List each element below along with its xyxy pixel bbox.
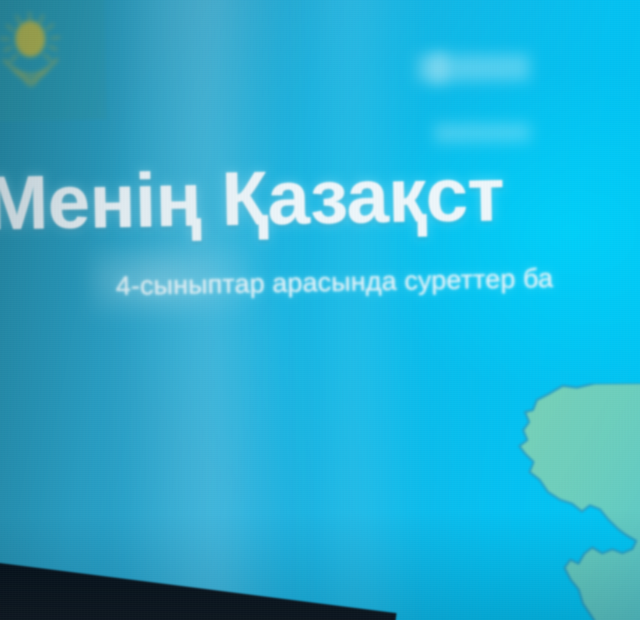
screen-photo: Менің Қазақст 4-сыныптар арасында суретт…	[0, 0, 640, 620]
display-surface: Менің Қазақст 4-сыныптар арасында суретт…	[0, 0, 640, 620]
slide-title: Менің Қазақст	[0, 153, 640, 243]
kazakhstan-map-outline	[485, 383, 640, 620]
kazakhstan-flag	[0, 0, 107, 122]
screen-glare-band	[111, 0, 307, 620]
decor-bar-upper-accent	[430, 51, 448, 85]
slide-subtitle: 4-сыныптар арасында суреттер ба	[115, 258, 640, 302]
decor-bar-lower	[434, 123, 530, 143]
screen-glare-band-secondary	[293, 0, 419, 620]
sun-and-eagle-emblem	[0, 8, 66, 93]
